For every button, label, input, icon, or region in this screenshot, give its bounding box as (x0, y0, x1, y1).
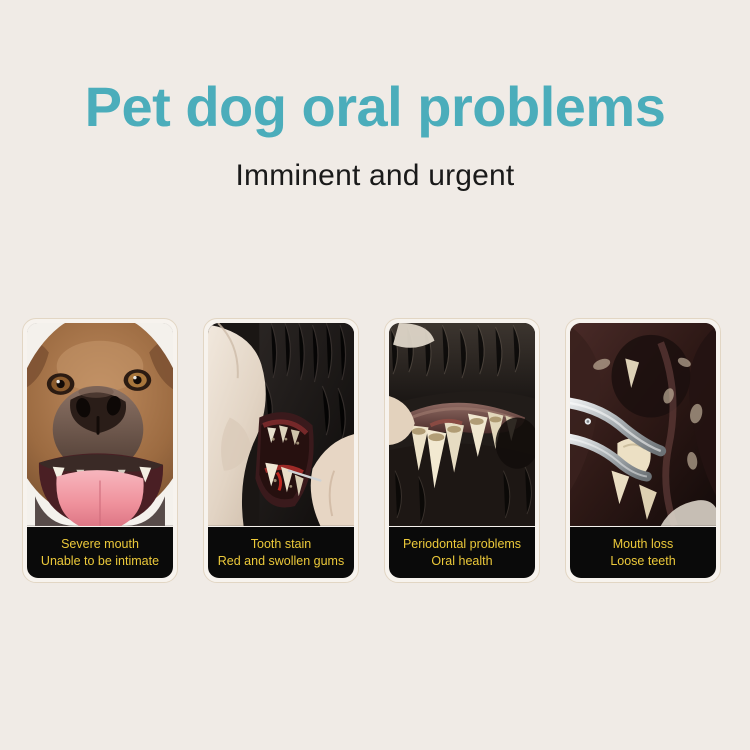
problem-card[interactable]: Mouth loss Loose teeth (565, 318, 721, 583)
dog-face-open-mouth-photo (27, 323, 173, 526)
problem-card[interactable]: Tooth stain Red and swollen gums (203, 318, 359, 583)
page-title: Pet dog oral problems (0, 78, 750, 137)
card-caption: Severe mouth Unable to be intimate (27, 527, 173, 578)
dark-dog-teeth-gums-photo (389, 323, 535, 526)
caption-line-primary: Severe mouth (61, 537, 139, 551)
poster-root: Pet dog oral problems Imminent and urgen… (0, 0, 750, 750)
caption-line-secondary: Loose teeth (610, 554, 675, 568)
gloved-hand-examining-black-dog-mouth-photo (208, 323, 354, 526)
caption-line-secondary: Red and swollen gums (218, 554, 344, 568)
header: Pet dog oral problems Imminent and urgen… (0, 78, 750, 193)
caption-line-secondary: Unable to be intimate (41, 554, 159, 568)
caption-line-primary: Tooth stain (251, 537, 311, 551)
card-caption: Periodontal problems Oral health (389, 527, 535, 578)
caption-line-primary: Periodontal problems (403, 537, 521, 551)
caption-line-primary: Mouth loss (613, 537, 673, 551)
card-caption: Tooth stain Red and swollen gums (208, 527, 354, 578)
dental-forceps-extracting-tooth-photo (570, 323, 716, 526)
problem-card-list: Severe mouth Unable to be intimate (22, 318, 728, 590)
problem-card[interactable]: Periodontal problems Oral health (384, 318, 540, 583)
problem-card[interactable]: Severe mouth Unable to be intimate (22, 318, 178, 583)
card-caption: Mouth loss Loose teeth (570, 527, 716, 578)
caption-line-secondary: Oral health (431, 554, 492, 568)
page-subtitle: Imminent and urgent (0, 159, 750, 193)
